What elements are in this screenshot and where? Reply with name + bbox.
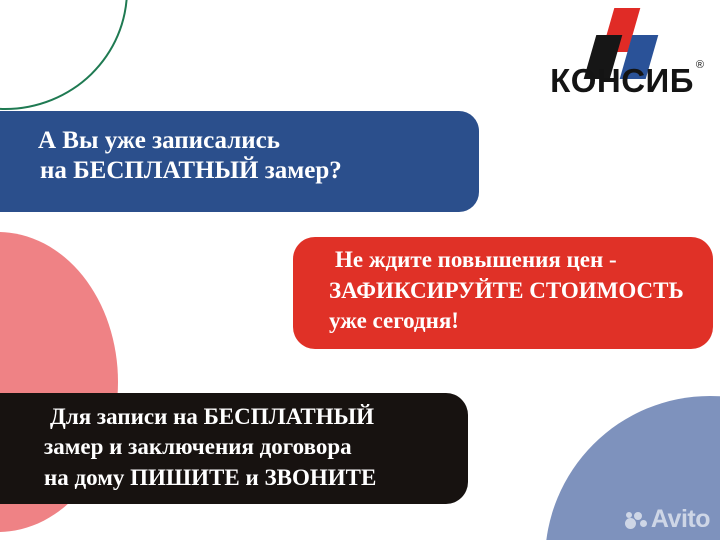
blue-banner-text: А Вы уже записались на БЕСПЛАТНЫЙ замер? (38, 126, 342, 185)
red-banner-line-3: уже сегодня! (329, 306, 684, 337)
blue-banner-line-2: на БЕСПЛАТНЫЙ замер? (40, 156, 342, 186)
logo-mark-icon (580, 8, 672, 68)
avito-watermark: Avito (625, 507, 710, 532)
black-banner-line-3: на дому ПИШИТЕ и ЗВОНИТЕ (44, 463, 376, 493)
red-banner-text: Не ждите повышения цен - ЗАФИКСИРУЙТЕ СТ… (329, 245, 684, 337)
green-ring-decoration (0, 0, 128, 110)
brand-logo: КОНСИБ ® (518, 8, 704, 106)
brand-name: КОНСИБ (550, 64, 694, 97)
black-banner-text: Для записи на БЕСПЛАТНЫЙ замер и заключе… (44, 402, 376, 493)
avito-wordmark: Avito (651, 507, 710, 532)
avito-dots-icon (625, 510, 647, 530)
blue-headline-banner: А Вы уже записались на БЕСПЛАТНЫЙ замер? (0, 111, 479, 212)
blue-banner-line-1: А Вы уже записались (38, 126, 342, 156)
black-banner-line-2: замер и заключения договора (44, 432, 376, 462)
advertisement-canvas: КОНСИБ ® А Вы уже записались на БЕСПЛАТН… (0, 0, 720, 540)
red-offer-banner: Не ждите повышения цен - ЗАФИКСИРУЙТЕ СТ… (293, 237, 713, 349)
red-banner-line-2: ЗАФИКСИРУЙТЕ СТОИМОСТЬ (329, 276, 684, 307)
registered-trademark-symbol: ® (696, 60, 704, 71)
red-banner-line-1: Не ждите повышения цен - (335, 245, 684, 276)
black-contact-banner: Для записи на БЕСПЛАТНЫЙ замер и заключе… (0, 393, 468, 504)
black-banner-line-1: Для записи на БЕСПЛАТНЫЙ (50, 402, 376, 432)
